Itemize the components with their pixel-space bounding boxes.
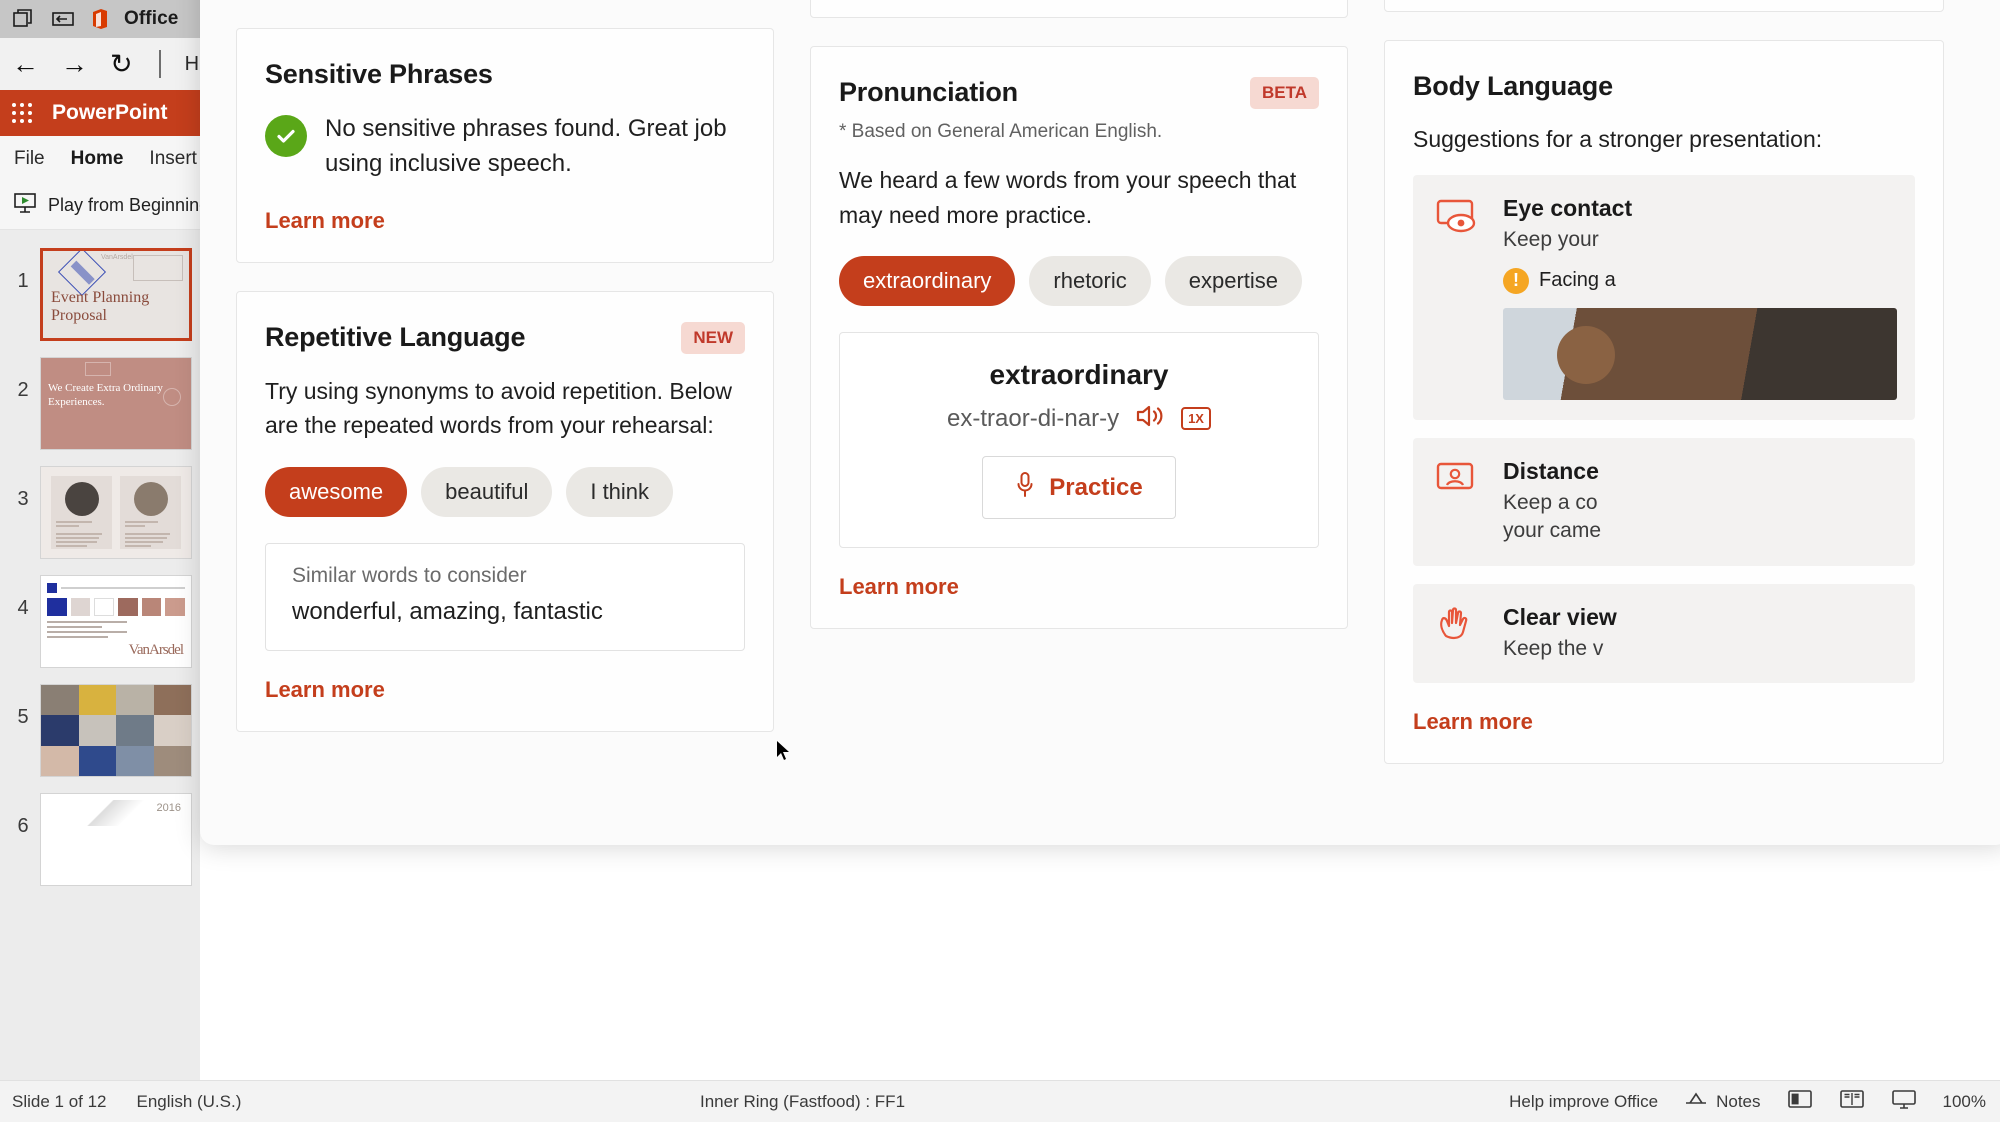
slide-watermark: VanArsdel	[101, 254, 133, 261]
coach-column-middle: Learn more Pronunciation BETA * Based on…	[810, 0, 1348, 845]
ribbon-command-row: Play from Beginning	[0, 182, 200, 230]
item-desc: Keep your	[1503, 226, 1897, 254]
card-pronunciation: Pronunciation BETA * Based on General Am…	[810, 46, 1348, 629]
tab-insert[interactable]: Insert	[149, 148, 197, 170]
card-title: Repetitive Language	[265, 322, 525, 353]
pronunciation-body: We heard a few words from your speech th…	[839, 163, 1319, 232]
pronunciation-detail-box: extraordinary ex-traor-di-nar-y 1X	[839, 332, 1319, 548]
person-face	[1557, 326, 1615, 384]
notes-label: Notes	[1716, 1092, 1760, 1112]
card-title: Sensitive Phrases	[265, 59, 493, 90]
thumbnail-slide-2[interactable]: 2 We Create Extra Ordinary Experiences.	[0, 357, 200, 450]
tab-home[interactable]: Home	[71, 148, 124, 170]
normal-view-icon[interactable]	[1787, 1088, 1813, 1115]
collapse-panel-icon[interactable]	[50, 6, 76, 32]
pronunciation-phonetic: ex-traor-di-nar-y	[947, 405, 1119, 433]
word-chip-expertise[interactable]: expertise	[1165, 256, 1302, 306]
avatar	[134, 482, 168, 516]
back-icon[interactable]: ←	[12, 51, 39, 78]
practice-label: Practice	[1049, 474, 1142, 502]
slide-number: 5	[6, 684, 40, 729]
pronunciation-word: extraordinary	[860, 359, 1298, 391]
ribbon-tab-strip: File Home Insert	[0, 136, 200, 182]
learn-more-link[interactable]: Learn more	[265, 208, 385, 234]
coach-column-right: Learn more Body Language Suggestions for…	[1384, 0, 1944, 845]
app-title: PowerPoint	[52, 101, 168, 125]
card-body-language: Body Language Suggestions for a stronger…	[1384, 40, 1944, 764]
repetitive-body: Try using synonyms to avoid repetition. …	[265, 374, 745, 443]
reading-view-icon[interactable]	[1839, 1088, 1865, 1115]
thumbnail-slide-4[interactable]: 4 VanArsdel	[0, 575, 200, 668]
slide-title-text: Event Planning Proposal	[51, 289, 189, 324]
slide-column	[120, 476, 181, 549]
warning-text: Facing a	[1539, 269, 1616, 292]
slide-brand-text: VanArsdel	[129, 642, 183, 659]
address-text: H	[185, 53, 199, 76]
slide-number: 2	[6, 357, 40, 402]
slide-count-text[interactable]: Slide 1 of 12	[12, 1092, 107, 1112]
zoom-level-text[interactable]: 100%	[1943, 1092, 1986, 1112]
slideshow-icon[interactable]	[1891, 1088, 1917, 1115]
speaker-coach-dialog: Sensitive Phrases No sensitive phrases f…	[200, 0, 2000, 845]
slide-preview[interactable]	[40, 684, 192, 777]
slide-preview[interactable]: We Create Extra Ordinary Experiences.	[40, 357, 192, 450]
reload-icon[interactable]: ↻	[110, 51, 133, 78]
slide-number: 1	[6, 248, 40, 293]
card-partial-top-right: Learn more	[1384, 0, 1944, 12]
item-warning: ! Facing a	[1503, 268, 1897, 294]
item-desc: Keep the v	[1503, 635, 1897, 663]
word-chip-i-think[interactable]: I think	[566, 467, 673, 517]
thumbnail-slide-3[interactable]: 3	[0, 466, 200, 559]
card-partial-top-middle: Learn more	[810, 0, 1348, 18]
word-chip-rhetoric[interactable]: rhetoric	[1029, 256, 1150, 306]
playback-speed-badge[interactable]: 1X	[1181, 407, 1211, 431]
new-badge: NEW	[681, 322, 745, 354]
learn-more-link[interactable]: Learn more	[1413, 709, 1533, 735]
word-chip-beautiful[interactable]: beautiful	[421, 467, 552, 517]
language-text[interactable]: English (U.S.)	[137, 1092, 242, 1112]
notes-button[interactable]: Notes	[1684, 1091, 1760, 1112]
similar-words-value: wonderful, amazing, fantastic	[292, 598, 718, 626]
body-language-item-eye-contact: Eye contact Keep your ! Facing a	[1413, 175, 1915, 420]
slide-column	[51, 476, 112, 549]
office-label: Office	[124, 8, 178, 30]
body-language-item-distance: Distance Keep a co your came	[1413, 438, 1915, 566]
sensitive-message: No sensitive phrases found. Great job us…	[325, 112, 745, 182]
card-title: Body Language	[1413, 71, 1613, 102]
notes-icon	[1684, 1091, 1708, 1112]
learn-more-link[interactable]: Learn more	[265, 677, 385, 703]
pronunciation-word-chips: extraordinary rhetoric expertise	[839, 256, 1319, 306]
help-improve-office-text[interactable]: Help improve Office	[1509, 1092, 1658, 1112]
restore-window-icon[interactable]	[10, 6, 36, 32]
card-repetitive-language: Repetitive Language NEW Try using synony…	[236, 291, 774, 732]
item-title: Clear view	[1503, 604, 1897, 631]
body-language-intro: Suggestions for a stronger presentation:	[1413, 122, 1915, 157]
learn-more-link[interactable]: Learn more	[839, 574, 959, 600]
slide-box-deco	[133, 255, 183, 281]
item-title: Distance	[1503, 458, 1897, 485]
warning-icon: !	[1503, 268, 1529, 294]
office-logo-icon	[90, 8, 110, 30]
body-language-item-clear-view: Clear view Keep the v	[1413, 584, 1915, 683]
avatar	[65, 482, 99, 516]
slide-number: 4	[6, 575, 40, 620]
status-center-text: Inner Ring (Fastfood) : FF1	[700, 1092, 905, 1112]
slide-thumbnail-pane[interactable]: 1 VanArsdel Event Planning Proposal 2 We…	[0, 230, 200, 1080]
speaker-icon[interactable]	[1135, 403, 1165, 434]
thumbnail-slide-1[interactable]: 1 VanArsdel Event Planning Proposal	[0, 248, 200, 341]
slide-year-text: 2016	[157, 802, 181, 814]
item-title: Eye contact	[1503, 195, 1897, 222]
pronunciation-note: * Based on General American English.	[839, 121, 1319, 143]
slide-preview[interactable]	[40, 466, 192, 559]
word-chip-extraordinary[interactable]: extraordinary	[839, 256, 1015, 306]
beta-badge: BETA	[1250, 77, 1319, 109]
word-chip-awesome[interactable]: awesome	[265, 467, 407, 517]
slide-deco	[85, 362, 111, 376]
card-title: Pronunciation	[839, 77, 1018, 108]
slide-preview[interactable]: VanArsdel	[40, 575, 192, 668]
window-titlebar: Office	[0, 0, 200, 38]
tab-file[interactable]: File	[14, 148, 45, 170]
practice-button[interactable]: Practice	[982, 456, 1175, 519]
similar-words-label: Similar words to consider	[292, 564, 718, 588]
status-bar: Slide 1 of 12 English (U.S.) Inner Ring …	[0, 1080, 2000, 1122]
body-language-photo	[1503, 308, 1897, 400]
thumbnail-slide-6[interactable]: 6 2016	[0, 793, 200, 886]
item-desc: Keep a co your came	[1503, 489, 1897, 546]
mouse-cursor	[776, 740, 792, 762]
repeated-word-chips: awesome beautiful I think	[265, 467, 745, 517]
microphone-icon	[1015, 471, 1035, 504]
slide-preview[interactable]: VanArsdel Event Planning Proposal	[40, 248, 192, 341]
slide-preview[interactable]: 2016	[40, 793, 192, 886]
browser-nav-bar: ← → ↻ H	[0, 38, 200, 90]
clear-view-icon	[1431, 604, 1483, 663]
coach-column-left: Sensitive Phrases No sensitive phrases f…	[236, 0, 774, 845]
app-launcher-icon[interactable]	[12, 103, 32, 123]
slide-title-text: We Create Extra Ordinary Experiences.	[48, 382, 191, 410]
slide-number: 3	[6, 466, 40, 511]
distance-icon	[1431, 458, 1483, 546]
forward-icon[interactable]: →	[61, 51, 88, 78]
eye-contact-icon	[1431, 195, 1483, 400]
nav-divider	[159, 50, 161, 78]
play-from-beginning-icon[interactable]	[12, 190, 38, 221]
check-circle-icon	[265, 115, 307, 157]
card-sensitive-phrases: Sensitive Phrases No sensitive phrases f…	[236, 28, 774, 263]
play-from-beginning-label[interactable]: Play from Beginning	[48, 195, 209, 216]
thumbnail-slide-5[interactable]: 5	[0, 684, 200, 777]
powerpoint-window: Office ← → ↻ H PowerPoint File Home Inse…	[0, 0, 2000, 1122]
slide-number: 6	[6, 793, 40, 838]
similar-words-box: Similar words to consider wonderful, ama…	[265, 543, 745, 651]
powerpoint-app-bar: PowerPoint	[0, 90, 200, 136]
